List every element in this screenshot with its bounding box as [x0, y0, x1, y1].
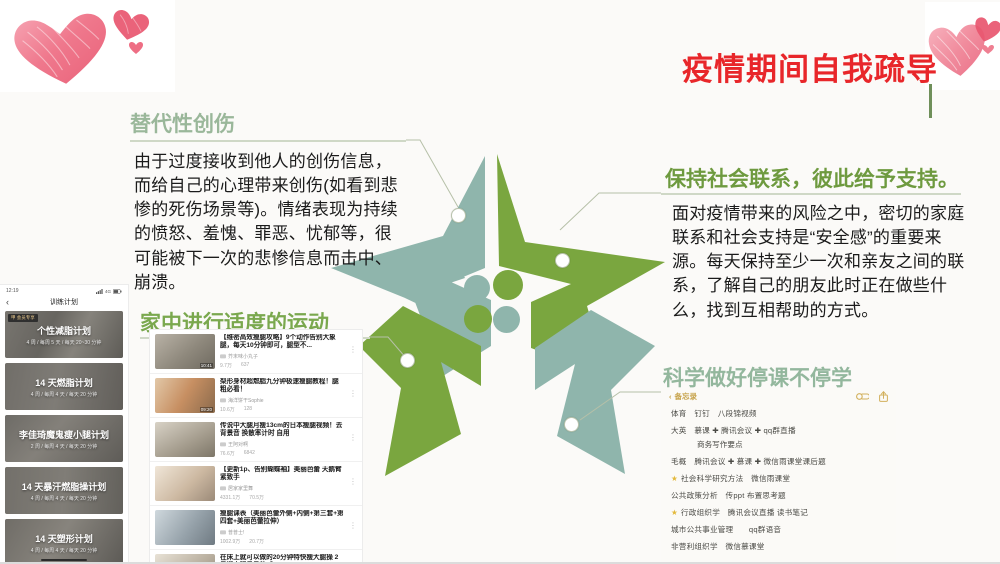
memo-subline: 商务写作要点 [661, 440, 896, 453]
heading-vicarious-trauma: 替代性创伤 [130, 108, 235, 138]
video-thumbnail[interactable]: 10:41 [155, 334, 215, 369]
video-author: 海洋饼干Sophie [220, 397, 344, 404]
plan-card[interactable]: 14 天燃脂计划 4 周 / 每周 4 天 / 每天 20 分钟 [5, 363, 123, 410]
share-icon[interactable] [879, 391, 888, 402]
status-indicators: 4G [96, 289, 122, 294]
video-thumbnail[interactable] [155, 422, 215, 457]
video-views: 10.6万 [220, 406, 235, 413]
video-meta: 【更新1p、告别蝴蝶袖】美丽芭蕾 天鹅臂 紧致手 居家家里舞 4331.1万 7… [220, 466, 344, 501]
plan-card[interactable]: 甲 会员专享 个性减脂计划 4 周 / 每周 5 天 / 每天 20~30 分钟 [5, 311, 123, 358]
phone-video-list[interactable]: 10:41 【维密高效瘦腿攻略】9个动作告别大象腿，每天10分钟即可，腿型不..… [150, 330, 362, 564]
home-indicator [41, 559, 87, 561]
connector-node-exercise [400, 353, 415, 368]
video-thumbnail[interactable] [155, 510, 215, 545]
memo-line-text: 社会科学研究方法 微信雨课堂 [681, 474, 790, 483]
list-item[interactable]: 【更新1p、告别蝴蝶袖】美丽芭蕾 天鹅臂 紧致手 居家家里舞 4331.1万 7… [150, 462, 362, 506]
plan-title: 李佳琦魔鬼瘦小腿计划 [19, 428, 109, 441]
plan-card[interactable]: 李佳琦魔鬼瘦小腿计划 2 周 / 每周 4 天 / 每天 20 分钟 [5, 415, 123, 462]
body-vicarious-trauma: 由于过度接收到他人的创伤信息，而给自己的心理带来创伤(如看到悲惨的死伤场景等)。… [134, 150, 406, 295]
phone-training-plans[interactable]: 12:19 4G ‹ 训练计划 甲 会员专享 个性减脂计划 4 周 [0, 285, 128, 564]
video-duration: 09:20 [200, 407, 213, 412]
uploader-icon [220, 398, 226, 403]
video-meta: 瘦腿课表（美丽芭蕾外侧+内侧+第三套+第四套+美丽芭蕾拉伸） 普普士! 1002… [220, 510, 344, 545]
video-meta: 梨形身材超燃脂九分钟极速瘦腿教程！腿粗必看！ 海洋饼干Sophie 10.6万 … [220, 378, 344, 413]
connector-node-trauma [451, 208, 466, 223]
video-thumbnail[interactable]: 09:20 [155, 378, 215, 413]
more-vertical-icon[interactable]: ⋮ [349, 378, 357, 413]
video-views: 4331.1万 [220, 494, 240, 501]
memo-line-text: 行政组织学 腾讯会议直播 读书笔记 [681, 508, 808, 517]
video-stats: 9.7万 637 [220, 362, 344, 369]
plan-tag: 甲 会员专享 [8, 314, 38, 322]
more-vertical-icon[interactable]: ⋮ [349, 554, 357, 564]
video-author: 王阿对啊 [220, 441, 344, 448]
memo-title: 备忘录 [675, 391, 698, 402]
video-author: 普普士! [220, 529, 344, 536]
list-item[interactable]: 在床上就可以做的20分钟特快瘦大腿操 2星期内明显见效【Coffee... 卿柏… [150, 550, 362, 564]
video-author-name: 居家家里舞 [228, 485, 253, 492]
video-title: 在床上就可以做的20分钟特快瘦大腿操 2星期内明显见效【Coffee... [220, 554, 344, 564]
uploader-icon [220, 442, 226, 447]
video-stats: 1002.9万 20.7万 [220, 538, 344, 545]
video-author-name: 海洋饼干Sophie [228, 397, 264, 404]
divider-social [661, 193, 961, 195]
list-item[interactable]: 传说中大腿月瘦13cm的日本瘦腿视频！去背景音 换散率计时 自用 王阿对啊 76… [150, 418, 362, 462]
video-title: 梨形身材超燃脂九分钟极速瘦腿教程！腿粗必看！ [220, 378, 344, 395]
video-title: 【维密高效瘦腿攻略】9个动作告别大象腿，每天10分钟即可，腿型不... [220, 334, 344, 351]
video-author: 居家家里舞 [220, 485, 344, 492]
video-comments: 70.5万 [249, 494, 264, 501]
memo-line: 公共政策分析 传ppt 布置思考题 [661, 487, 896, 504]
video-meta: 【维密高效瘦腿攻略】9个动作告别大象腿，每天10分钟即可，腿型不... 芥末味小… [220, 334, 344, 369]
video-title: 传说中大腿月瘦13cm的日本瘦腿视频！去背景音 换散率计时 自用 [220, 422, 344, 439]
edit-lock-icon[interactable] [856, 392, 869, 401]
video-meta: 在床上就可以做的20分钟特快瘦大腿操 2星期内明显见效【Coffee... 卿柏… [220, 554, 344, 564]
plan-title: 14 天燃脂计划 [35, 376, 93, 389]
video-stats: 76.6万 6842 [220, 450, 344, 457]
video-comments: 128 [244, 406, 252, 412]
video-thumbnail[interactable] [155, 554, 215, 564]
nav-title: 训练计划 [0, 297, 128, 307]
signal-icon [96, 289, 103, 294]
connector-node-study [564, 417, 579, 432]
video-meta: 传说中大腿月瘦13cm的日本瘦腿视频！去背景音 换散率计时 自用 王阿对啊 76… [220, 422, 344, 457]
memo-actions [856, 391, 888, 402]
list-item[interactable]: 09:20 梨形身材超燃脂九分钟极速瘦腿教程！腿粗必看！ 海洋饼干Sophie … [150, 374, 362, 418]
plan-subtitle: 4 周 / 每周 4 天 / 每天 20 分钟 [31, 495, 97, 502]
video-title: 【更新1p、告别蝴蝶袖】美丽芭蕾 天鹅臂 紧致手 [220, 466, 344, 483]
plan-card[interactable]: 14 天塑形计划 4 周 / 每周 4 天 / 每天 20 分钟 [5, 519, 123, 564]
video-author: 芥末味小丸子 [220, 353, 344, 360]
memo-toolbar: ‹ 备忘录 [661, 388, 896, 406]
more-vertical-icon[interactable]: ⋮ [349, 466, 357, 501]
video-title: 瘦腿课表（美丽芭蕾外侧+内侧+第三套+第四套+美丽芭蕾拉伸） [220, 510, 344, 527]
memo-line: 体育 钉钉 八段锦视频 [661, 406, 896, 423]
status-bar: 12:19 4G [0, 285, 128, 294]
memo-line-starred: ★社会科学研究方法 微信雨课堂 [661, 470, 896, 487]
video-author-name: 普普士! [228, 529, 244, 536]
video-stats: 4331.1万 70.5万 [220, 494, 344, 501]
list-item[interactable]: 瘦腿课表（美丽芭蕾外侧+内侧+第三套+第四套+美丽芭蕾拉伸） 普普士! 1002… [150, 506, 362, 550]
plan-subtitle: 4 周 / 每周 4 天 / 每天 20 分钟 [31, 547, 97, 554]
memo-line-starred: ★行政组织学 腾讯会议直播 读书笔记 [661, 504, 896, 521]
memo-line: 大英 慕课 ✚ 腾讯会议 ✚ qq群直播 [661, 423, 896, 440]
video-comments: 637 [241, 362, 249, 368]
video-author-name: 王阿对啊 [228, 441, 248, 448]
more-vertical-icon[interactable]: ⋮ [349, 422, 357, 457]
nav-bar: ‹ 训练计划 [0, 294, 128, 311]
plan-card[interactable]: 14 天暴汗燃脂操计划 4 周 / 每周 4 天 / 每天 20 分钟 [5, 467, 123, 514]
battery-icon [113, 289, 122, 294]
uploader-icon [220, 530, 226, 535]
divider-trauma [130, 140, 406, 142]
plan-title: 个性减脂计划 [37, 324, 91, 337]
more-vertical-icon[interactable]: ⋮ [349, 334, 357, 369]
body-social-connection: 面对疫情带来的风险之中，密切的家庭联系和社会支持是“安全感”的重要来源。每天保持… [672, 202, 972, 323]
video-views: 9.7万 [220, 362, 232, 369]
memo-app-panel[interactable]: ‹ 备忘录 体育 钉钉 八段锦视频 大英 慕课 ✚ 腾讯会议 ✚ qq群直播 商… [661, 388, 896, 564]
memo-line: 非营利组织学 微信慕课堂 [661, 538, 896, 555]
more-vertical-icon[interactable]: ⋮ [349, 510, 357, 545]
star-icon: ★ [671, 474, 681, 483]
video-comments: 20.7万 [249, 538, 264, 545]
video-comments: 6842 [244, 450, 255, 456]
memo-back[interactable]: ‹ 备忘录 [669, 391, 697, 402]
plan-title: 14 天暴汗燃脂操计划 [22, 480, 107, 493]
memo-line: 城市公共事业管理 qq群语音 [661, 521, 896, 538]
video-views: 76.6万 [220, 450, 235, 457]
video-views: 1002.9万 [220, 538, 240, 545]
video-author-name: 芥末味小丸子 [228, 353, 258, 360]
connector-node-social [555, 253, 570, 268]
plan-subtitle: 4 周 / 每周 4 天 / 每天 20 分钟 [31, 391, 97, 398]
memo-line: 毛概 腾讯会议 ✚ 慕课 ✚ 微信雨课堂课后题 [661, 453, 896, 470]
chevron-left-icon[interactable]: ‹ [669, 392, 672, 401]
slide-canvas: 疫情期间自我疏导 替代性创伤 由于过度接收到他人的创伤信息 [0, 0, 1000, 564]
uploader-icon [220, 486, 226, 491]
video-duration: 10:41 [200, 363, 213, 368]
plan-title: 14 天塑形计划 [35, 532, 93, 545]
plan-subtitle: 4 周 / 每周 5 天 / 每天 20~30 分钟 [27, 339, 102, 346]
list-item[interactable]: 10:41 【维密高效瘦腿攻略】9个动作告别大象腿，每天10分钟即可，腿型不..… [150, 330, 362, 374]
status-network: 4G [105, 289, 111, 294]
plan-subtitle: 2 周 / 每周 4 天 / 每天 20 分钟 [31, 443, 97, 450]
uploader-icon [220, 354, 226, 359]
heading-social-connection: 保持社会联系，彼此给予支持。 [665, 163, 959, 193]
star-icon: ★ [671, 508, 681, 517]
video-stats: 10.6万 128 [220, 406, 344, 413]
video-thumbnail[interactable] [155, 466, 215, 501]
